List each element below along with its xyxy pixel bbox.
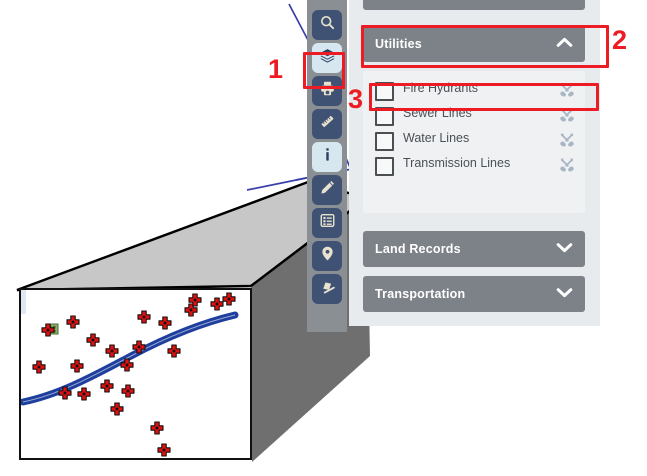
annotation-number-1: 1 xyxy=(268,56,283,83)
toolbar-button-pencil[interactable] xyxy=(312,175,342,205)
toolbar-button-ruler[interactable] xyxy=(312,109,342,139)
annotation-number-3: 3 xyxy=(348,86,363,113)
toolbar-button-legend[interactable] xyxy=(312,208,342,238)
layer-visibility-checkbox[interactable] xyxy=(375,157,394,176)
annotation-number-2: 2 xyxy=(612,27,627,54)
map-inset-canvas xyxy=(21,290,250,458)
transportation-section-header[interactable]: Transportation xyxy=(363,276,585,312)
section-header-clipped[interactable] xyxy=(363,0,585,10)
map-pin-icon xyxy=(319,245,336,267)
layer-row[interactable]: Water Lines xyxy=(363,129,585,154)
annotation-box-3 xyxy=(369,83,599,111)
legend-icon xyxy=(319,212,336,234)
toolbar-button-eraser[interactable] xyxy=(312,274,342,304)
pencil-icon xyxy=(319,179,336,201)
layer-label: Water Lines xyxy=(403,130,469,147)
layer-visibility-checkbox[interactable] xyxy=(375,132,394,151)
annotation-box-2 xyxy=(361,25,609,68)
toolbar-button-map-pin[interactable] xyxy=(312,241,342,271)
chevron-down-icon xyxy=(556,242,573,256)
search-icon xyxy=(319,14,336,36)
ruler-icon xyxy=(319,113,336,135)
tools-icon[interactable] xyxy=(559,157,575,178)
land-records-section-label: Land Records xyxy=(375,242,461,256)
toolbar-button-info[interactable] xyxy=(312,142,342,172)
annotation-box-1 xyxy=(303,52,345,89)
tools-icon[interactable] xyxy=(559,132,575,153)
info-icon xyxy=(319,146,336,168)
transportation-section-label: Transportation xyxy=(375,287,465,301)
toolbar-button-search[interactable] xyxy=(312,10,342,40)
layer-label: Transmission Lines xyxy=(403,155,510,172)
layer-row[interactable]: Transmission Lines xyxy=(363,154,585,179)
map-tools-toolbar xyxy=(307,0,347,332)
eraser-icon xyxy=(319,278,336,300)
screenshot-root: Utilities Fire HydrantsSewer LinesWater … xyxy=(0,0,647,476)
zoomed-map-preview[interactable] xyxy=(19,288,252,460)
chevron-down-icon xyxy=(556,287,573,301)
land-records-section-header[interactable]: Land Records xyxy=(363,231,585,267)
